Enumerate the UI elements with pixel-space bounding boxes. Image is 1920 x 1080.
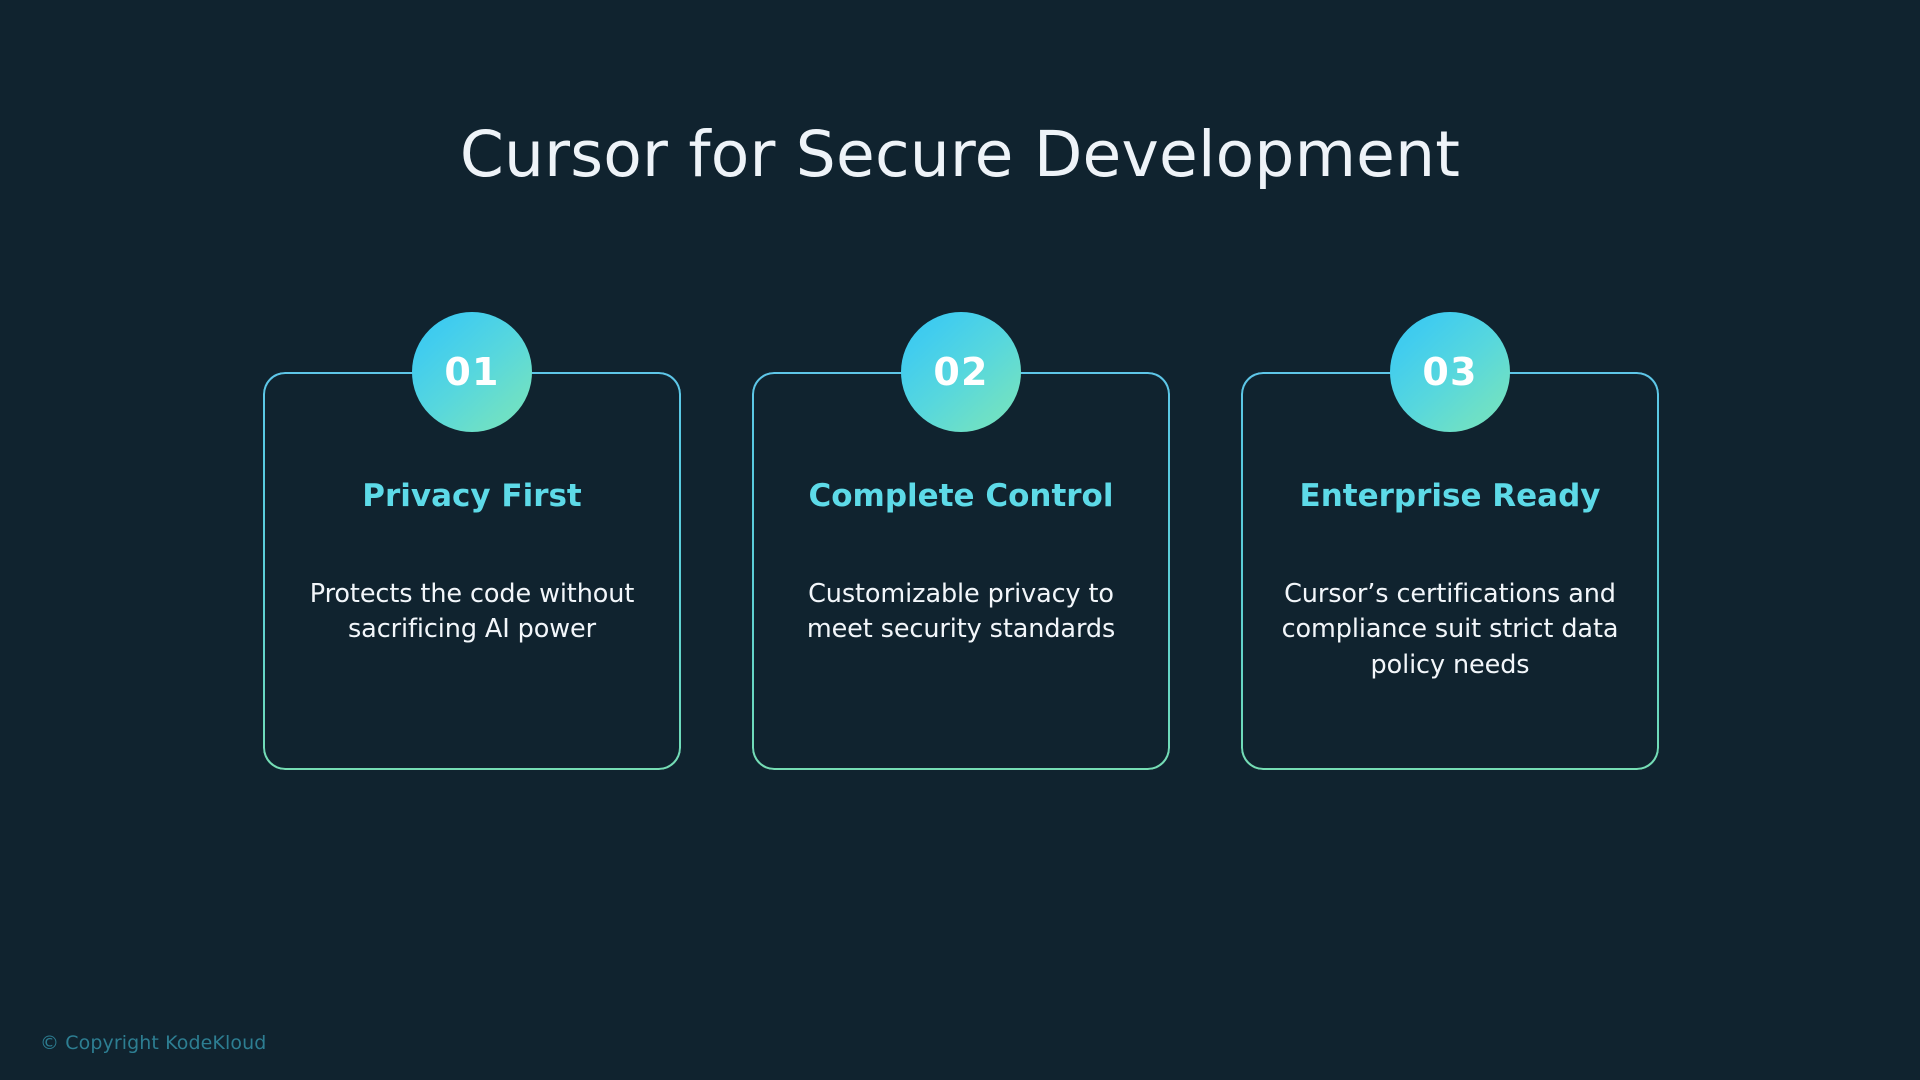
card-badge-number: 01 [444,353,499,391]
feature-card-privacy-first[interactable]: 01 Privacy First Protects the code witho… [263,372,681,770]
card-badge-01: 01 [412,312,532,432]
card-heading: Privacy First [289,478,655,515]
card-badge-02: 02 [901,312,1021,432]
footer-copyright: © Copyright KodeKloud [40,1032,266,1054]
slide-canvas: Cursor for Secure Development 01 Privacy… [0,0,1920,1080]
card-description: Protects the code without sacrificing AI… [289,577,655,647]
feature-card-row: 01 Privacy First Protects the code witho… [263,372,1659,772]
page-title: Cursor for Secure Development [0,120,1920,191]
card-badge-number: 02 [933,353,988,391]
feature-card-complete-control[interactable]: 02 Complete Control Customizable privacy… [752,372,1170,770]
feature-card-enterprise-ready[interactable]: 03 Enterprise Ready Cursor’s certificati… [1241,372,1659,770]
card-heading: Enterprise Ready [1267,478,1633,515]
card-heading: Complete Control [778,478,1144,515]
card-badge-03: 03 [1390,312,1510,432]
card-description: Customizable privacy to meet security st… [778,577,1144,647]
card-badge-number: 03 [1422,353,1477,391]
card-description: Cursor’s certifications and compliance s… [1267,577,1633,683]
